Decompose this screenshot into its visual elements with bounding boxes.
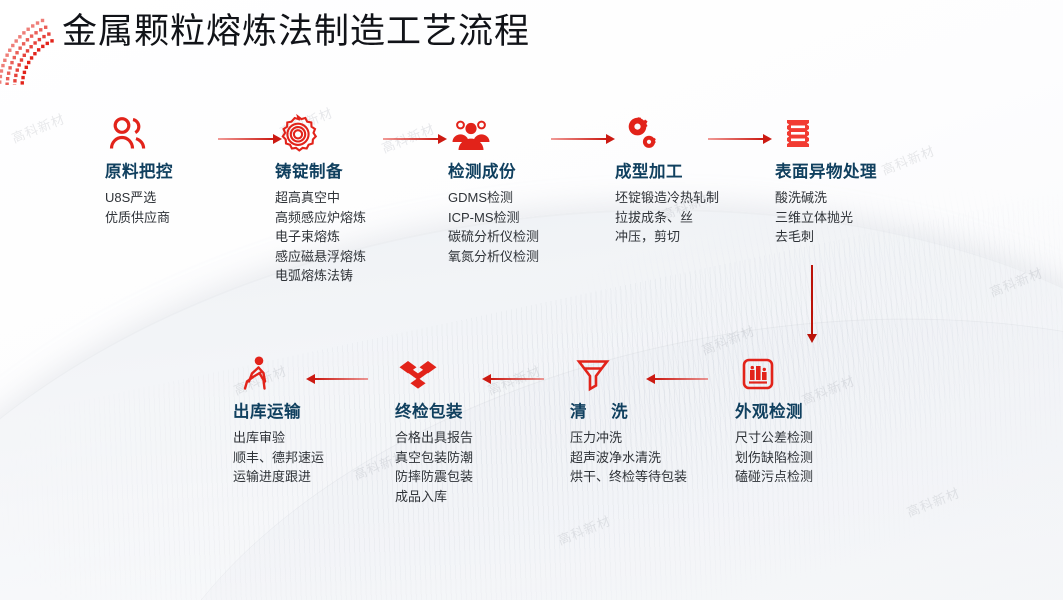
arrow-head (807, 334, 817, 343)
document-lines-icon (775, 112, 877, 158)
step-detail-line: 三维立体抛光 (775, 208, 877, 228)
step-detail-line: 超高真空中 (275, 188, 366, 208)
step-surface-foreign-matter-treatment[interactable]: 表面异物处理 酸洗碱洗三维立体抛光去毛刺 (775, 112, 877, 247)
step-detail-line: 真空包装防潮 (395, 448, 473, 468)
step-detail-list: 超高真空中高频感应炉熔炼电子束熔炼感应磁悬浮熔炼电弧熔炼法铸 (275, 188, 366, 286)
step-detail-line: GDMS检测 (448, 188, 539, 208)
people-group-icon (448, 112, 539, 158)
step-outbound-transport[interactable]: 出库运输 出库审验顺丰、德邦速运运输进度跟进 (233, 352, 324, 487)
step-detail-line: 优质供应商 (105, 208, 173, 228)
page-title-area: 金属颗粒熔炼法制造工艺流程 (62, 8, 530, 56)
double-gear-icon (615, 112, 719, 158)
step-composition-inspection[interactable]: 检测成份 GDMS检测ICP-MS检测碳硫分析仪检测氧氮分析仪检测 (448, 112, 539, 266)
arrow-shaft (811, 265, 813, 334)
step-raw-material-control[interactable]: 原料把控 U8S严选优质供应商 (105, 112, 173, 227)
step-detail-line: 压力冲洗 (570, 428, 687, 448)
step-detail-list: 坯锭锻造冷热轧制拉拔成条、丝冲压，剪切 (615, 188, 719, 247)
concentric-gear-icon (275, 112, 366, 158)
flow-arrow-3 (551, 133, 615, 145)
step-detail-line: 烘干、终检等待包装 (570, 467, 687, 487)
process-flow: 原料把控 U8S严选优质供应商 铸锭制备 超高真空中高频感应炉熔炼电子束熔炼感应… (0, 0, 1063, 600)
step-detail-line: 坯锭锻造冷热轧制 (615, 188, 719, 208)
step-detail-line: 运输进度跟进 (233, 467, 324, 487)
arrow-shaft (383, 138, 438, 140)
step-title: 原料把控 (105, 162, 173, 183)
step-final-inspection-packaging[interactable]: 终检包装 合格出具报告真空包装防潮防摔防震包装成品入库 (395, 352, 473, 506)
two-people-outline-icon (105, 112, 173, 158)
step-detail-list: 压力冲洗超声波净水清洗烘干、终检等待包装 (570, 428, 687, 487)
step-detail-line: 去毛刺 (775, 227, 877, 247)
step-ingot-preparation[interactable]: 铸锭制备 超高真空中高频感应炉熔炼电子束熔炼感应磁悬浮熔炼电弧熔炼法铸 (275, 112, 366, 286)
flow-arrow-vertical (806, 265, 818, 343)
step-title: 铸锭制备 (275, 162, 366, 183)
step-detail-line: 氧氮分析仪检测 (448, 247, 539, 267)
arrow-shaft (551, 138, 606, 140)
step-detail-line: 顺丰、德邦速运 (233, 448, 324, 468)
step-detail-line: 磕碰污点检测 (735, 467, 813, 487)
arrow-shaft (708, 138, 763, 140)
step-detail-line: 酸洗碱洗 (775, 188, 877, 208)
arrow-head (763, 134, 772, 144)
walking-person-icon (233, 352, 324, 398)
step-detail-list: GDMS检测ICP-MS检测碳硫分析仪检测氧氮分析仪检测 (448, 188, 539, 266)
step-title: 检测成份 (448, 162, 539, 183)
step-detail-line: 电弧熔炼法铸 (275, 266, 366, 286)
step-detail-list: 合格出具报告真空包装防潮防摔防震包装成品入库 (395, 428, 473, 506)
arrow-head (606, 134, 615, 144)
step-detail-line: 划伤缺陷检测 (735, 448, 813, 468)
flow-arrow-4 (708, 133, 772, 145)
open-box-icon (395, 352, 473, 398)
step-title: 成型加工 (615, 162, 719, 183)
step-detail-line: 感应磁悬浮熔炼 (275, 247, 366, 267)
step-detail-line: 出库审验 (233, 428, 324, 448)
step-detail-list: 尺寸公差检测划伤缺陷检测磕碰污点检测 (735, 428, 813, 487)
step-detail-line: 冲压，剪切 (615, 227, 719, 247)
step-appearance-inspection[interactable]: 外观检测 尺寸公差检测划伤缺陷检测磕碰污点检测 (735, 352, 813, 487)
step-detail-list: U8S严选优质供应商 (105, 188, 173, 227)
step-detail-line: ICP-MS检测 (448, 208, 539, 228)
step-detail-list: 酸洗碱洗三维立体抛光去毛刺 (775, 188, 877, 247)
step-detail-line: 拉拔成条、丝 (615, 208, 719, 228)
flow-arrow-6 (482, 373, 544, 385)
step-detail-line: 电子束熔炼 (275, 227, 366, 247)
flow-arrow-2 (383, 133, 447, 145)
step-detail-line: U8S严选 (105, 188, 173, 208)
step-title: 表面异物处理 (775, 162, 877, 183)
step-cleaning[interactable]: 清 洗 压力冲洗超声波净水清洗烘干、终检等待包装 (570, 352, 687, 487)
step-detail-line: 高频感应炉熔炼 (275, 208, 366, 228)
page-title: 金属颗粒熔炼法制造工艺流程 (62, 8, 530, 56)
step-title: 终检包装 (395, 402, 473, 423)
step-detail-line: 合格出具报告 (395, 428, 473, 448)
flow-arrow-1 (218, 133, 282, 145)
step-detail-line: 超声波净水清洗 (570, 448, 687, 468)
funnel-icon (570, 352, 687, 398)
step-title: 外观检测 (735, 402, 813, 423)
step-title: 清 洗 (570, 402, 687, 423)
step-detail-line: 尺寸公差检测 (735, 428, 813, 448)
arrow-head (438, 134, 447, 144)
step-forming-processing[interactable]: 成型加工 坯锭锻造冷热轧制拉拔成条、丝冲压，剪切 (615, 112, 719, 247)
step-detail-line: 防摔防震包装 (395, 467, 473, 487)
inspection-badge-icon (735, 352, 813, 398)
arrow-head (482, 374, 491, 384)
step-detail-line: 成品入库 (395, 487, 473, 507)
step-detail-line: 碳硫分析仪检测 (448, 227, 539, 247)
arrow-shaft (491, 378, 544, 380)
arrow-shaft (218, 138, 273, 140)
step-title: 出库运输 (233, 402, 324, 423)
step-detail-list: 出库审验顺丰、德邦速运运输进度跟进 (233, 428, 324, 487)
